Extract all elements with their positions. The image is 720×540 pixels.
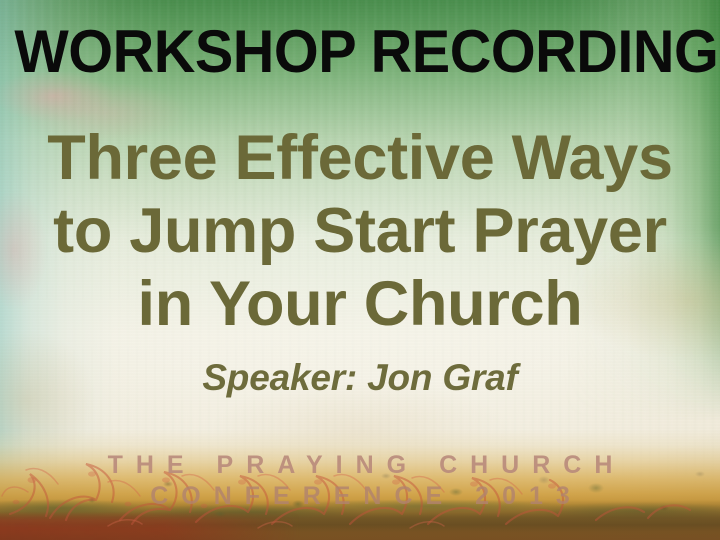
conference-subtitle: CONFERENCE 2013 bbox=[0, 480, 720, 512]
conference-name: THE PRAYING CHURCH bbox=[0, 450, 720, 480]
slide-text-stack: WORKSHOP RECORDING Three Effective Ways … bbox=[0, 0, 720, 540]
page-title: Three Effective Ways to Jump Start Praye… bbox=[0, 122, 720, 341]
heading-line-3: in Your Church bbox=[0, 268, 720, 341]
slide-canvas: WORKSHOP RECORDING Three Effective Ways … bbox=[0, 0, 720, 540]
heading-line-1: Three Effective Ways bbox=[0, 122, 720, 195]
speaker-label: Speaker: Jon Graf bbox=[0, 357, 720, 399]
heading-line-2: to Jump Start Prayer bbox=[0, 195, 720, 268]
kicker-label: WORKSHOP RECORDING bbox=[14, 22, 705, 82]
conference-branding: THE PRAYING CHURCH CONFERENCE 2013 bbox=[0, 450, 720, 512]
